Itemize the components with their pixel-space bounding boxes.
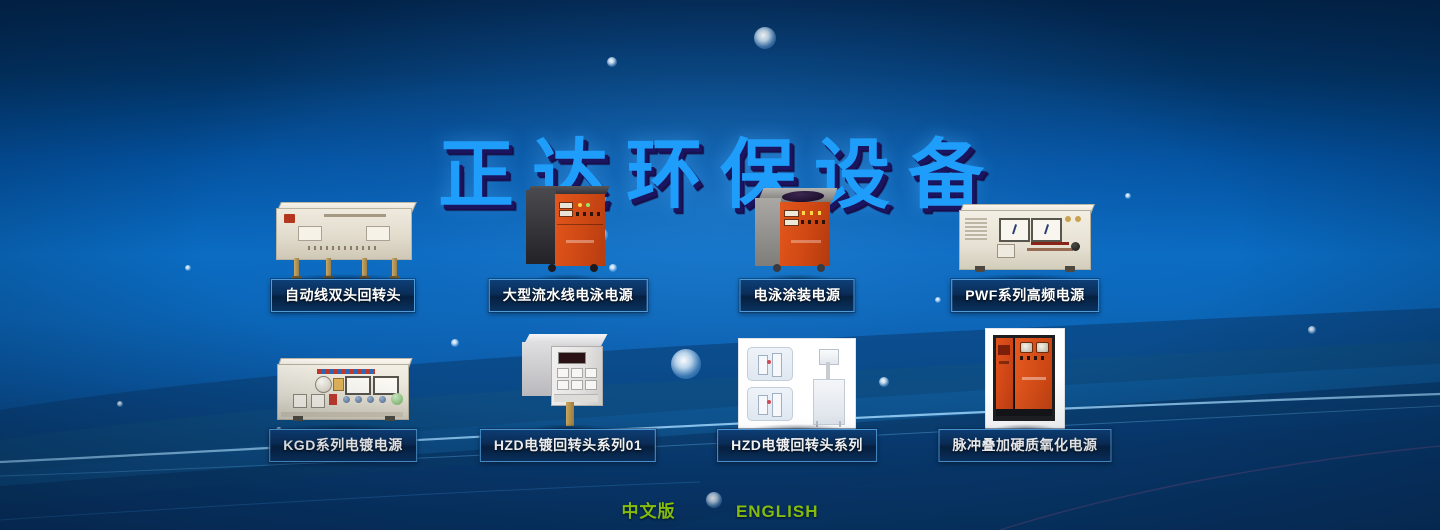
- language-bar: 中文版 ENGLISH: [0, 497, 1440, 522]
- product-card-8[interactable]: 脉冲叠加硬质氧化电源: [915, 330, 1135, 480]
- product-photo-4: [953, 180, 1097, 280]
- product-label-7[interactable]: HZD电镀回转头系列: [717, 429, 877, 462]
- product-label-6[interactable]: HZD电镀回转头系列01: [480, 429, 656, 462]
- product-card-7[interactable]: HZD电镀回转头系列: [687, 330, 907, 480]
- product-label-5[interactable]: KGD系列电镀电源: [269, 429, 417, 462]
- product-photo-7: [738, 330, 856, 430]
- product-photo-1: [268, 180, 418, 280]
- product-card-4[interactable]: PWF系列高频电源: [915, 180, 1135, 330]
- product-grid: 自动线双头回转头 大型流水线电泳电源: [0, 180, 1440, 480]
- product-label-8[interactable]: 脉冲叠加硬质氧化电源: [939, 429, 1112, 462]
- product-photo-2: [526, 180, 610, 280]
- product-photo-8: [985, 330, 1065, 430]
- product-photo-3: [755, 180, 839, 280]
- bokeh-dot: [754, 27, 776, 49]
- product-card-5[interactable]: KGD系列电镀电源: [233, 330, 453, 480]
- product-photo-6: [522, 330, 614, 430]
- product-card-6[interactable]: HZD电镀回转头系列01: [458, 330, 678, 480]
- product-label-2[interactable]: 大型流水线电泳电源: [489, 279, 648, 312]
- lang-link-english[interactable]: ENGLISH: [736, 502, 819, 522]
- product-label-3[interactable]: 电泳涂装电源: [740, 279, 855, 312]
- product-row-2: KGD系列电镀电源 HZD电镀回转头系列01: [0, 330, 1440, 480]
- product-card-2[interactable]: 大型流水线电泳电源: [458, 180, 678, 330]
- product-label-1[interactable]: 自动线双头回转头: [271, 279, 415, 312]
- lang-link-chinese[interactable]: 中文版: [621, 497, 675, 522]
- product-card-3[interactable]: 电泳涂装电源: [687, 180, 907, 330]
- promo-banner: 正达环保设备 自动线双头回转头: [0, 0, 1440, 530]
- product-photo-5: [271, 330, 415, 430]
- product-label-4[interactable]: PWF系列高频电源: [951, 279, 1099, 312]
- product-card-1[interactable]: 自动线双头回转头: [233, 180, 453, 330]
- product-row-1: 自动线双头回转头 大型流水线电泳电源: [0, 180, 1440, 330]
- bokeh-dot: [607, 57, 617, 67]
